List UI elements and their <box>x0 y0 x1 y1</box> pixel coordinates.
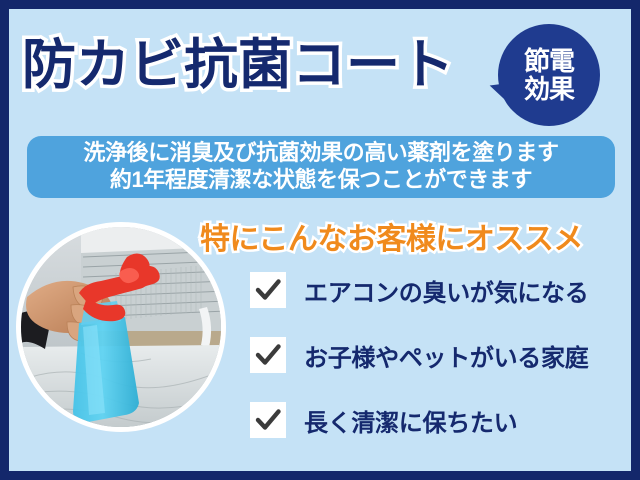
description-line-1: 洗浄後に消臭及び抗菌効果の高い薬剤を塗ります <box>83 140 558 167</box>
badge-text: 節電 効果 <box>498 24 600 126</box>
description-banner: 洗浄後に消臭及び抗菌効果の高い薬剤を塗ります 約1年程度清潔な状態を保つことがで… <box>27 136 615 198</box>
list-item-label: 長く清潔に保ちたい <box>304 403 517 438</box>
spray-bottle-photo-illustration <box>21 227 221 427</box>
page-title: 防カビ抗菌コート <box>22 38 454 92</box>
badge-line-1: 節電 <box>524 47 574 75</box>
check-icon <box>250 402 286 438</box>
check-icon <box>250 337 286 373</box>
list-item: お子様やペットがいる家庭 <box>250 337 630 373</box>
promo-poster: 防カビ抗菌コート 節電 効果 洗浄後に消臭及び抗菌効果の高い薬剤を塗ります 約1… <box>0 0 640 480</box>
list-item: エアコンの臭いが気になる <box>250 272 630 308</box>
poster-bottom-frame <box>0 471 640 480</box>
list-item-label: エアコンの臭いが気になる <box>304 273 588 308</box>
badge-line-2: 効果 <box>524 75 574 103</box>
recommend-heading: 特にこんなお客様にオススメ <box>200 214 583 258</box>
energy-saving-badge: 節電 効果 <box>488 24 600 136</box>
list-item-label: お子様やペットがいる家庭 <box>304 338 588 373</box>
list-item: 長く清潔に保ちたい <box>250 402 630 438</box>
description-line-2: 約1年程度清潔な状態を保つことができます <box>110 167 532 194</box>
recommend-list: エアコンの臭いが気になる お子様やペットがいる家庭 長く清潔に保ちたい <box>250 272 630 467</box>
product-photo <box>16 222 226 432</box>
check-icon <box>250 272 286 308</box>
